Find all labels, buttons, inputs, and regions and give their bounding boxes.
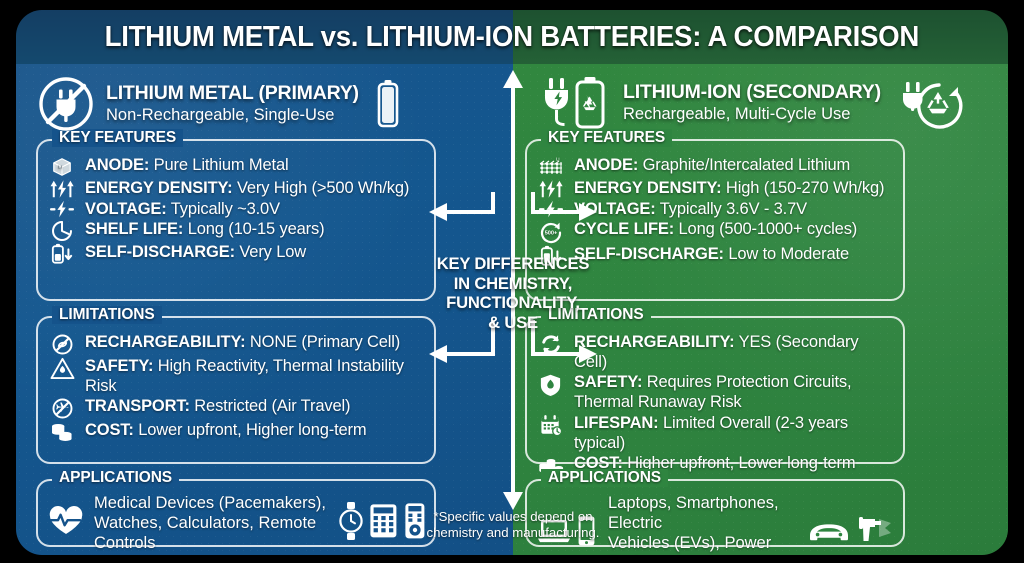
- comparison-card: LITHIUM METAL vs. LITHIUM-ION BATTERIES:…: [16, 10, 1008, 555]
- fire-warning-icon: [48, 356, 76, 380]
- list-item-text: RECHARGEABILITY: YES (Secondary Cell): [574, 332, 895, 372]
- voltage-icon: [48, 199, 76, 218]
- list-item-text: VOLTAGE: Typically 3.6V - 3.7V: [574, 199, 807, 219]
- right-limitations-label: LIMITATIONS: [541, 306, 651, 324]
- right-applications-box: APPLICATIONS: [525, 479, 905, 547]
- list-item: LIFESPAN: Limited Overall (2-3 years typ…: [537, 413, 895, 453]
- list-item: COST: Lower upfront, Higher long-term: [48, 420, 426, 443]
- list-item: SAFETY: High Reactivity, Thermal Instabi…: [48, 356, 426, 396]
- left-applications-label: APPLICATIONS: [52, 469, 179, 487]
- list-item: SAFETY: Requires Protection Circuits, Th…: [537, 372, 895, 412]
- title-bar: LITHIUM METAL vs. LITHIUM-ION BATTERIES:…: [16, 10, 1008, 64]
- list-item-text: COST: Lower upfront, Higher long-term: [85, 420, 367, 440]
- list-item-text: SAFETY: High Reactivity, Thermal Instabi…: [85, 356, 426, 396]
- battery-cell-icon: [375, 78, 401, 130]
- list-item: TRANSPORT: Restricted (Air Travel): [48, 396, 426, 420]
- left-key-features-box: KEY FEATURES Li ANODE: Pure Lithium Meta…: [36, 139, 436, 301]
- lithium-ion-title: LITHIUM-ION (SECONDARY): [623, 82, 881, 104]
- lithium-metal-header-text: LITHIUM METAL (PRIMARY) Non-Rechargeable…: [106, 83, 359, 125]
- lithium-ion-header-text: LITHIUM-ION (SECONDARY) Rechargeable, Mu…: [623, 82, 881, 124]
- list-item-text: TRANSPORT: Restricted (Air Travel): [85, 396, 350, 416]
- right-applications-label: APPLICATIONS: [541, 469, 668, 487]
- left-key-features-rows: Li ANODE: Pure Lithium Metal: [38, 141, 434, 273]
- energy-density-icon: [537, 178, 565, 199]
- page-title: LITHIUM METAL vs. LITHIUM-ION BATTERIES:…: [105, 21, 919, 54]
- right-applications-lead-icons: [537, 515, 596, 552]
- list-item-text: ANODE: Pure Lithium Metal: [85, 155, 288, 175]
- list-item: RECHARGEABILITY: YES (Secondary Cell): [537, 332, 895, 372]
- right-limitations-box: LIMITATIONS RECHARGEA: [525, 316, 905, 464]
- list-item-text: CYCLE LIFE: Long (500-1000+ cycles): [574, 219, 857, 239]
- left-applications-line1: Medical Devices (Pacemakers),: [94, 494, 327, 514]
- lithium-metal-header: LITHIUM METAL (PRIMARY) Non-Rechargeable…: [36, 74, 401, 134]
- cycle-500-icon: 500+: [537, 219, 565, 244]
- graphite-lattice-icon: Li: [537, 155, 565, 178]
- calendar-clock-icon: [537, 413, 565, 437]
- right-key-features-box: KEY FEATURES: [525, 139, 905, 301]
- right-applications-text: Laptops, Smartphones, Electric Vehicles …: [608, 494, 795, 555]
- calculator-icon: [369, 503, 398, 544]
- list-item: ENERGY DENSITY: Very High (>500 Wh/kg): [48, 178, 426, 199]
- laptop-icon: [537, 517, 571, 550]
- clock-icon: [48, 219, 76, 242]
- left-limitations-box: LIMITATIONS RECHARGEABILITY: NONE (Prima: [36, 316, 436, 464]
- charging-battery-plug-icon: [541, 74, 613, 132]
- list-item: SHELF LIFE: Long (10-15 years): [48, 219, 426, 242]
- left-applications-line2: Watches, Calculators, Remote Controls: [94, 514, 327, 554]
- lithium-metal-subtitle: Non-Rechargeable, Single-Use: [106, 106, 359, 125]
- remote-control-icon: [404, 502, 426, 545]
- right-applications-line1: Laptops, Smartphones, Electric: [608, 494, 795, 534]
- voltage-icon: [537, 199, 565, 218]
- lithium-cube-icon: Li: [48, 155, 76, 178]
- heartbeat-icon: [48, 506, 86, 541]
- lithium-metal-panel: LITHIUM METAL (PRIMARY) Non-Rechargeable…: [16, 64, 513, 555]
- list-item: SELF-DISCHARGE: Low to Moderate: [537, 244, 895, 267]
- no-airplane-icon: [48, 396, 76, 420]
- left-applications-icons: [339, 501, 426, 546]
- battery-discharge-icon: [537, 244, 565, 267]
- right-applications-line2: Vehicles (EVs), Power Tools: [608, 534, 795, 555]
- list-item-text: ANODE: Graphite/Intercalated Lithium: [574, 155, 850, 175]
- left-limitations-label: LIMITATIONS: [52, 306, 162, 324]
- list-item-text: RECHARGEABILITY: NONE (Primary Cell): [85, 332, 400, 352]
- svg-text:Li: Li: [556, 156, 559, 161]
- left-applications-text: Medical Devices (Pacemakers), Watches, C…: [94, 494, 327, 553]
- infographic-root: LITHIUM METAL vs. LITHIUM-ION BATTERIES:…: [0, 0, 1024, 563]
- recycle-arrows-icon: [537, 332, 565, 356]
- svg-text:Li: Li: [58, 164, 63, 170]
- list-item-text: SAFETY: Requires Protection Circuits, Th…: [574, 372, 895, 412]
- car-icon: [807, 518, 851, 549]
- list-item: RECHARGEABILITY: NONE (Primary Cell): [48, 332, 426, 356]
- lithium-ion-panel: LITHIUM-ION (SECONDARY) Rechargeable, Mu…: [513, 64, 1008, 555]
- right-key-features-rows: Li ANODE: Graphite/Intercalated Lithium: [527, 141, 903, 275]
- list-item-text: SELF-DISCHARGE: Low to Moderate: [574, 244, 849, 264]
- svg-text:500+: 500+: [545, 231, 558, 237]
- list-item-text: SHELF LIFE: Long (10-15 years): [85, 219, 324, 239]
- left-applications-content: Medical Devices (Pacemakers), Watches, C…: [38, 481, 434, 555]
- watch-icon: [339, 501, 363, 546]
- lithium-ion-header: LITHIUM-ION (SECONDARY) Rechargeable, Mu…: [541, 74, 965, 132]
- lithium-metal-title: LITHIUM METAL (PRIMARY): [106, 83, 359, 105]
- lithium-ion-subtitle: Rechargeable, Multi-Cycle Use: [623, 105, 881, 124]
- list-item: SELF-DISCHARGE: Very Low: [48, 242, 426, 265]
- right-applications-trailing-icons: [807, 515, 895, 552]
- list-item-text: SELF-DISCHARGE: Very Low: [85, 242, 306, 262]
- list-item: VOLTAGE: Typically 3.6V - 3.7V: [537, 199, 895, 219]
- no-recharge-plug-icon: [36, 74, 96, 134]
- right-applications-content: Laptops, Smartphones, Electric Vehicles …: [527, 481, 903, 555]
- list-item: ENERGY DENSITY: High (150-270 Wh/kg): [537, 178, 895, 199]
- list-item-text: LIFESPAN: Limited Overall (2-3 years typ…: [574, 413, 895, 453]
- energy-density-icon: [48, 178, 76, 199]
- power-drill-icon: [857, 515, 895, 552]
- list-item-text: VOLTAGE: Typically ~3.0V: [85, 199, 280, 219]
- list-item: VOLTAGE: Typically ~3.0V: [48, 199, 426, 219]
- comparison-body: LITHIUM METAL (PRIMARY) Non-Rechargeable…: [16, 64, 1008, 555]
- left-applications-box: APPLICATIONS Medical Devices (Pacemakers…: [36, 479, 436, 547]
- list-item-text: ENERGY DENSITY: High (150-270 Wh/kg): [574, 178, 884, 198]
- list-item: Li ANODE: Pure Lithium Metal: [48, 155, 426, 178]
- list-item-text: ENERGY DENSITY: Very High (>500 Wh/kg): [85, 178, 409, 198]
- battery-discharge-icon: [48, 242, 76, 265]
- coins-icon: [48, 420, 76, 443]
- recycle-plug-icon: [901, 74, 965, 132]
- smartphone-icon: [577, 515, 596, 552]
- list-item: Li ANODE: Graphite/Intercalated Lithium: [537, 155, 895, 178]
- shield-fire-icon: [537, 372, 565, 397]
- list-item: 500+ CYCLE LIFE: Long (500-1000+ cycles): [537, 219, 895, 244]
- no-recharge-icon: [48, 332, 76, 356]
- left-limitations-rows: RECHARGEABILITY: NONE (Primary Cell) SAF…: [38, 318, 434, 451]
- right-limitations-rows: RECHARGEABILITY: YES (Secondary Cell) SA…: [527, 318, 903, 484]
